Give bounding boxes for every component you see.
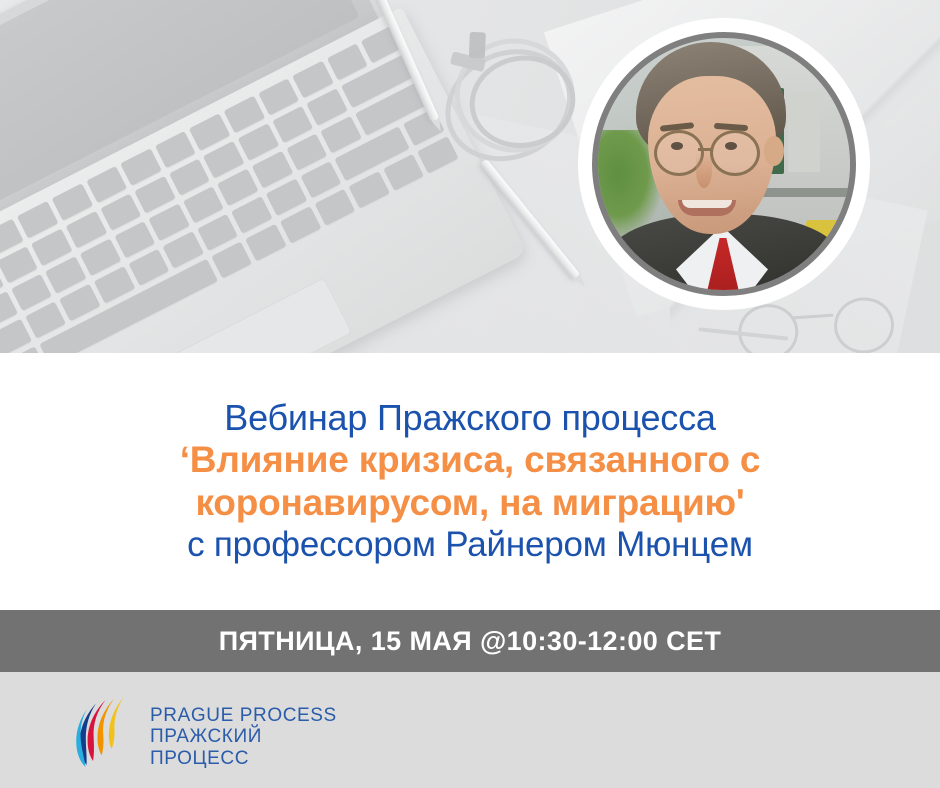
webinar-poster: Вебинар Пражского процесса ‘Влияние криз…: [0, 0, 940, 788]
hero-background-photo: [0, 0, 940, 353]
date-bar-text: ПЯТНИЦА, 15 МАЯ @10:30-12:00 CET: [219, 626, 722, 657]
prague-process-logo: PRAGUE PROCESS ПРАЖСКИЙ ПРОЦЕСС: [76, 694, 346, 768]
avatar: [592, 32, 856, 296]
footer-band: PRAGUE PROCESS ПРАЖСКИЙ ПРОЦЕСС: [0, 672, 940, 788]
logo-name-en: PRAGUE PROCESS: [150, 705, 346, 726]
headline-line-1: Вебинар Пражского процесса: [224, 397, 715, 439]
logo-text: PRAGUE PROCESS ПРАЖСКИЙ ПРОЦЕСС: [150, 693, 346, 769]
swoosh-icon: [76, 695, 138, 767]
logo-name-ru: ПРАЖСКИЙ ПРОЦЕСС: [150, 726, 346, 769]
headline-line-3: коронавирусом, на миграцию': [195, 482, 744, 525]
speaker-photo-ring: [578, 18, 870, 310]
headline-line-2: ‘Влияние кризиса, связанного с: [180, 439, 761, 482]
date-bar: ПЯТНИЦА, 15 МАЯ @10:30-12:00 CET: [0, 610, 940, 672]
headline-band: Вебинар Пражского процесса ‘Влияние криз…: [0, 353, 940, 610]
headline-line-4: с профессором Райнером Мюнцем: [187, 525, 753, 566]
